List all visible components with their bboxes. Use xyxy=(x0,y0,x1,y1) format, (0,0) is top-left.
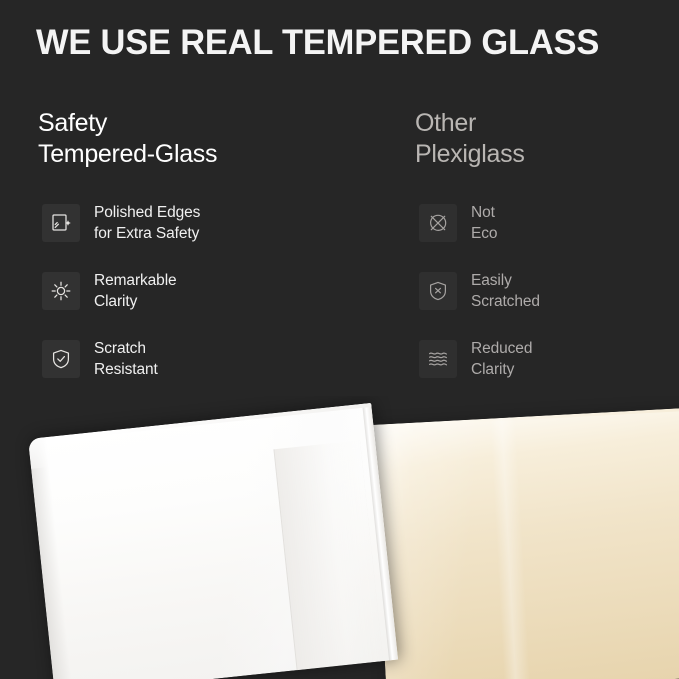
glass-inner-reflection xyxy=(273,440,385,679)
plexiglass-panel xyxy=(372,407,679,679)
feature-polished-edges: Polished Edges for Extra Safety xyxy=(38,204,378,272)
comparison-column-plexiglass: Other Plexiglass Not Eco xyxy=(415,108,665,170)
feature-easily-scratched: Easily Scratched xyxy=(415,272,665,340)
shield-check-icon xyxy=(42,340,80,378)
feature-label: Easily Scratched xyxy=(471,270,540,312)
feature-label: Remarkable Clarity xyxy=(94,270,177,312)
column-heading-tempered-glass: Safety Tempered-Glass xyxy=(38,108,378,170)
leaf-crossed-out-icon xyxy=(419,204,457,242)
product-photo xyxy=(0,396,679,679)
plexi-sheen xyxy=(490,417,531,679)
tempered-glass-panel xyxy=(28,403,398,679)
feature-label: Reduced Clarity xyxy=(471,338,532,380)
glass-top-bevel xyxy=(38,403,372,442)
page-title: WE USE REAL TEMPERED GLASS xyxy=(36,20,647,66)
glass-left-shading xyxy=(28,437,73,679)
polished-edges-icon xyxy=(42,204,80,242)
feature-label: Scratch Resistant xyxy=(94,338,158,380)
wavy-lines-icon xyxy=(419,340,457,378)
comparison-column-tempered-glass: Safety Tempered-Glass Polished Edges for… xyxy=(38,108,378,170)
feature-label: Polished Edges for Extra Safety xyxy=(94,202,200,244)
infographic-page: WE USE REAL TEMPERED GLASS Safety Temper… xyxy=(0,0,679,679)
feature-remarkable-clarity: Remarkable Clarity xyxy=(38,272,378,340)
shield-x-icon xyxy=(419,272,457,310)
glass-corner-gloss xyxy=(28,434,75,468)
feature-not-eco: Not Eco xyxy=(415,204,665,272)
feature-list-tempered-glass: Polished Edges for Extra Safety Remarkab… xyxy=(38,204,378,408)
feature-label: Not Eco xyxy=(471,202,497,244)
clarity-sun-icon xyxy=(42,272,80,310)
feature-list-plexiglass: Not Eco Easily Scratched xyxy=(415,204,665,408)
plexi-top-edge xyxy=(372,407,679,428)
column-heading-plexiglass: Other Plexiglass xyxy=(415,108,665,170)
